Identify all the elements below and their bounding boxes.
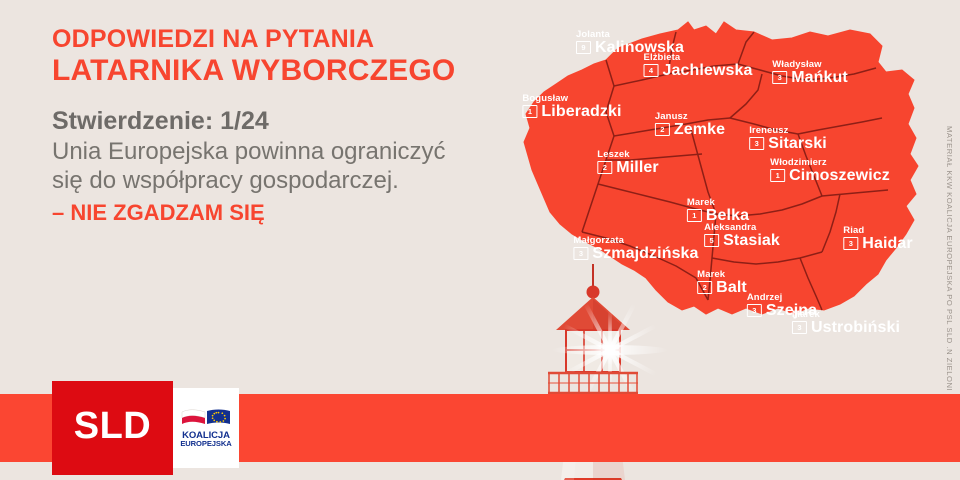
candidate-badge: 5 [704, 234, 719, 247]
statement-block: Stwierdzenie: 1/24 Unia Europejska powin… [52, 106, 492, 227]
candidate-last-name: Ustrobiński [811, 320, 900, 336]
sld-wordmark: SLD [74, 405, 152, 448]
sponsor-credit: MATERIAŁ KKW KOALICJA EUROPEJSKA PO PSL … [945, 126, 954, 391]
flags-icon [180, 408, 232, 429]
candidate-badge: 1 [770, 169, 785, 182]
candidate-badge: 2 [697, 281, 712, 294]
candidate-badge: 1 [687, 209, 702, 222]
map-label: Marek 1Belka [687, 198, 749, 224]
candidate-badge: 3 [772, 71, 787, 84]
candidate-badge: 9 [576, 41, 591, 54]
koalicja-line-2: EUROPEJSKA [180, 440, 231, 448]
logo-lockup: SLD KOALICJA EUROPEJSKA [52, 381, 246, 475]
map-label: Władysław 3Mańkut [772, 60, 848, 86]
candidate-badge: 3 [749, 137, 764, 150]
map-label: Aleksandra 5Stasiak [704, 223, 780, 249]
map-label: Ireneusz 3Sitarski [749, 126, 827, 152]
statement-text-line-2: się do współpracy gospodarczej. [52, 166, 492, 196]
candidate-badge: 2 [655, 123, 670, 136]
statement-counter: Stwierdzenie: 1/24 [52, 106, 492, 137]
candidate-last-name: Balt [716, 280, 747, 296]
candidate-badge: 3 [747, 304, 762, 317]
map-label: Włodzimierz 1Cimoszewicz [770, 158, 890, 184]
lighthouse-spire [587, 264, 600, 299]
candidate-last-name: Liberadzki [541, 104, 621, 120]
candidate-last-name: Haidar [862, 236, 912, 252]
koalicja-europejska-logo: KOALICJA EUROPEJSKA [173, 388, 239, 468]
candidate-badge: 3 [792, 321, 807, 334]
statement-answer: – NIE ZGADZAM SIĘ [52, 199, 492, 227]
candidate-last-name: Cimoszewicz [789, 168, 890, 184]
candidate-last-name: Jachlewska [663, 63, 753, 79]
statement-text-line-1: Unia Europejska powinna ograniczyć [52, 137, 492, 167]
sld-logo: SLD [52, 381, 173, 475]
map-label: Elżbieta 4Jachlewska [644, 53, 753, 79]
map-label: Marek 2Balt [697, 270, 747, 296]
candidate-badge: 3 [843, 237, 858, 250]
candidate-last-name: Stasiak [723, 233, 780, 249]
map-label: Bogusław 1Liberadzki [522, 94, 621, 120]
map-label: Riad 3Haidar [843, 226, 912, 252]
headline-line-1: ODPOWIEDZI NA PYTANIA [52, 26, 482, 53]
map-label: Marek 3Ustrobiński [792, 310, 900, 336]
candidate-last-name: Szmajdzińska [592, 246, 698, 262]
map-label: Janusz 2Zemke [655, 112, 725, 138]
poster-canvas: Jolanta 9Kalinowska Elżbieta 4Jachlewska… [0, 0, 960, 480]
candidate-badge: 2 [597, 161, 612, 174]
candidate-last-name: Mańkut [791, 70, 848, 86]
headline-line-2: LATARNIKA WYBORCZEGO [52, 55, 482, 87]
map-label: Leszek 2Miller [597, 150, 658, 176]
map-label: Małgorzata 3Szmajdzińska [573, 236, 698, 262]
candidate-badge: 3 [573, 247, 588, 260]
candidate-badge: 1 [522, 105, 537, 118]
candidate-last-name: Zemke [674, 122, 725, 138]
candidate-last-name: Miller [616, 160, 658, 176]
candidate-last-name: Sitarski [768, 136, 827, 152]
headline: ODPOWIEDZI NA PYTANIA LATARNIKA WYBORCZE… [52, 26, 482, 86]
candidate-badge: 4 [644, 64, 659, 77]
